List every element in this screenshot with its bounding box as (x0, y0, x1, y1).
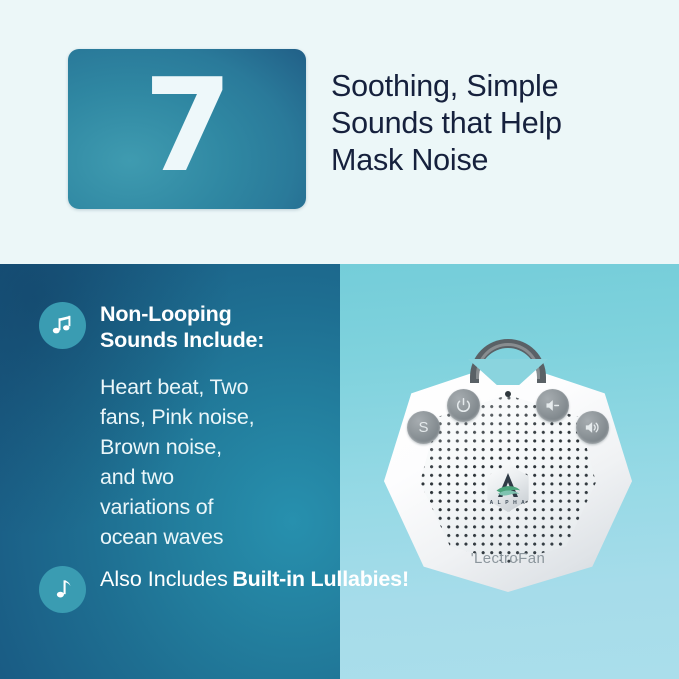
sounds-list: Heart beat, Two fans, Pink noise, Brown … (100, 372, 330, 552)
brand-wordmark: 'LectroFan (384, 550, 632, 567)
sounds-list-line-2: fans, Pink noise, (100, 402, 330, 432)
number-tile-value: 7 (143, 63, 230, 191)
product-image-panel: S (340, 264, 679, 679)
bullet-non-looping-text: Non-Looping Sounds Include: (100, 302, 264, 353)
bullet-non-looping-sounds: Non-Looping Sounds Include: (39, 302, 264, 353)
lullabies-line-bold: Built-in Lullabies! (232, 567, 409, 591)
sounds-list-line-3: Brown noise, (100, 432, 330, 462)
number-tile: 7 (68, 49, 306, 209)
volume-down-icon (544, 397, 561, 414)
sounds-list-line-1: Heart beat, Two (100, 372, 330, 402)
page-title-line-3: Mask Noise (331, 142, 651, 179)
bullet-heading: Non-Looping Sounds Include: (100, 302, 264, 353)
alpha-logo-badge: A L P H A (484, 464, 532, 512)
bullet-heading-line-1: Non-Looping (100, 302, 264, 328)
power-button[interactable] (447, 389, 480, 422)
header-section: 7 Soothing, Simple Sounds that Help Mask… (0, 0, 679, 264)
sounds-list-line-6: ocean waves (100, 522, 330, 552)
volume-down-button[interactable] (536, 389, 569, 422)
sound-button-label: S (418, 420, 428, 435)
status-led-icon (505, 391, 511, 397)
volume-up-icon (584, 419, 601, 436)
single-music-note-icon (39, 566, 86, 613)
bullet-heading-line-2: Sounds Include: (100, 328, 264, 354)
page-title: Soothing, Simple Sounds that Help Mask N… (331, 68, 651, 179)
double-music-note-icon (39, 302, 86, 349)
sounds-list-line-5: variations of (100, 492, 330, 522)
sound-button[interactable]: S (407, 411, 440, 444)
badge-label: A L P H A (484, 500, 532, 506)
bullet-lullabies-text: Also Includes Built-in Lullabies! (100, 566, 409, 593)
lullabies-line-regular: Also Includes (100, 567, 228, 591)
sounds-list-line-4: and two (100, 462, 330, 492)
power-icon (455, 397, 472, 414)
infographic-page: 7 Soothing, Simple Sounds that Help Mask… (0, 0, 679, 679)
volume-up-button[interactable] (576, 411, 609, 444)
page-title-line-2: Sounds that Help (331, 105, 651, 142)
page-title-line-1: Soothing, Simple (331, 68, 651, 105)
lectrofan-alpha-device: S (384, 339, 632, 592)
